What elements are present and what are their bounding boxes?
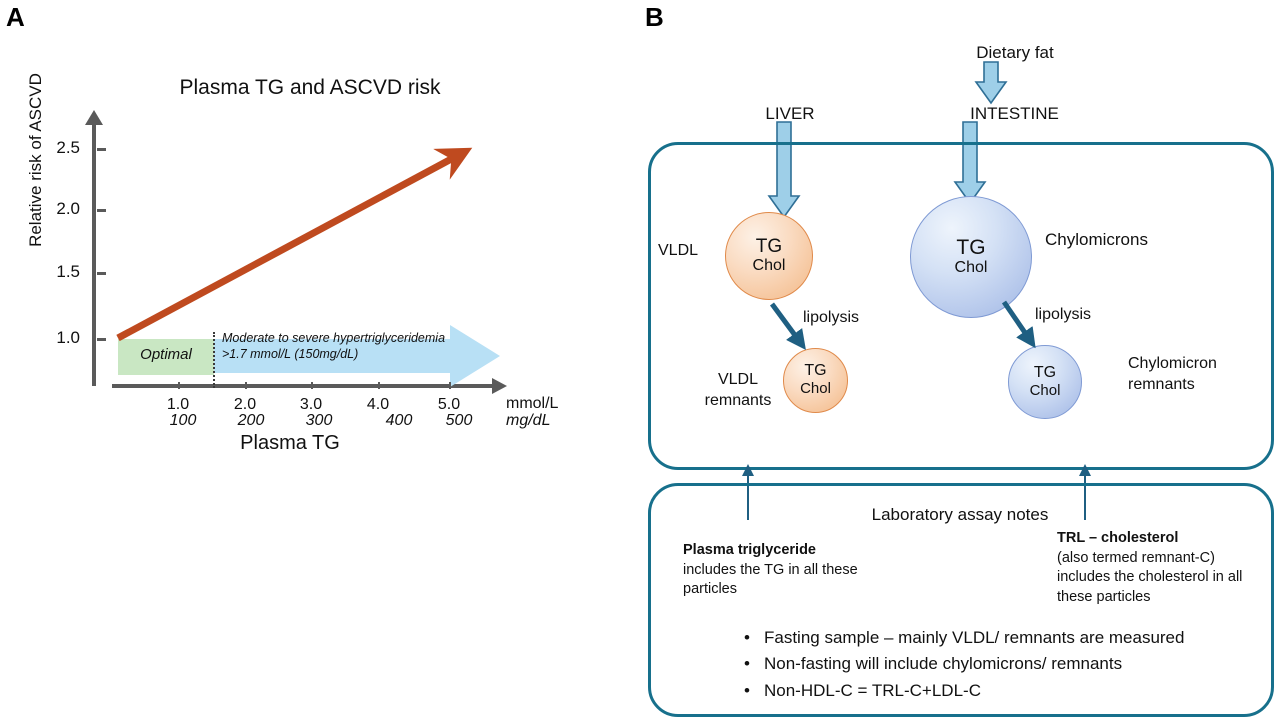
vldl-remnants-label: VLDL remnants: [698, 370, 778, 412]
vldl-particle: TG Chol: [725, 212, 813, 300]
plasma-triglyceride-note-heading: Plasma triglyceride: [683, 541, 873, 561]
vldl-remnant-particle-tg: TG: [804, 363, 826, 380]
chylomicron-particle-chol: Chol: [955, 259, 988, 277]
list-item: • Non-HDL-C = TRL-C+LDL-C: [730, 678, 1240, 704]
chylomicron-remnant-particle: TG Chol: [1008, 345, 1082, 419]
panel-a-chart: Plasma TG and ASCVD risk Relative risk o…: [0, 0, 620, 480]
bullet-icon: •: [730, 625, 764, 651]
bullet-icon: •: [730, 678, 764, 704]
vldl-label: VLDL: [658, 241, 698, 261]
assay-notes-bullet-list: • Fasting sample – mainly VLDL/ remnants…: [730, 625, 1240, 704]
figure-root: A B Plasma TG and ASCVD risk Relative ri…: [0, 0, 1280, 716]
risk-trend-arrow: [0, 0, 620, 480]
vldl-particle-chol: Chol: [753, 257, 786, 275]
bullet-icon: •: [730, 651, 764, 677]
bullet-text: Fasting sample – mainly VLDL/ remnants a…: [764, 625, 1184, 651]
lipolysis-label-chylomicron: lipolysis: [1035, 305, 1091, 325]
vldl-particle-tg: TG: [756, 237, 782, 257]
laboratory-assay-notes-title: Laboratory assay notes: [760, 505, 1160, 525]
trl-cholesterol-note-body: (also termed remnant-C) includes the cho…: [1057, 550, 1242, 605]
vldl-remnant-particle: TG Chol: [783, 348, 848, 413]
bullet-text: Non-HDL-C = TRL-C+LDL-C: [764, 678, 981, 704]
plasma-triglyceride-note-body: includes the TG in all these particles: [683, 562, 858, 598]
panel-b-diagram: Dietary fat LIVER INTESTINE TG Chol TG C…: [620, 0, 1280, 716]
trl-cholesterol-note-heading: TRL – cholesterol: [1057, 529, 1252, 549]
lipolysis-label-vldl: lipolysis: [803, 308, 859, 328]
list-item: • Fasting sample – mainly VLDL/ remnants…: [730, 625, 1240, 651]
plasma-triglyceride-note: Plasma triglyceride includes the TG in a…: [683, 541, 873, 600]
dietary-fat-arrow-icon: [975, 62, 1007, 104]
vldl-remnant-particle-chol: Chol: [800, 380, 831, 397]
chylomicrons-label: Chylomicrons: [1045, 229, 1148, 250]
chylomicron-remnant-particle-tg: TG: [1034, 365, 1056, 382]
chylomicron-particle-tg: TG: [956, 237, 985, 259]
chylomicron-remnant-particle-chol: Chol: [1030, 382, 1061, 399]
chylomicron-remnants-label: Chylomicron remnants: [1128, 354, 1238, 396]
trl-cholesterol-note: TRL – cholesterol (also termed remnant-C…: [1057, 529, 1252, 607]
list-item: • Non-fasting will include chylomicrons/…: [730, 651, 1240, 677]
bullet-text: Non-fasting will include chylomicrons/ r…: [764, 651, 1122, 677]
dietary-fat-label: Dietary fat: [935, 42, 1095, 63]
